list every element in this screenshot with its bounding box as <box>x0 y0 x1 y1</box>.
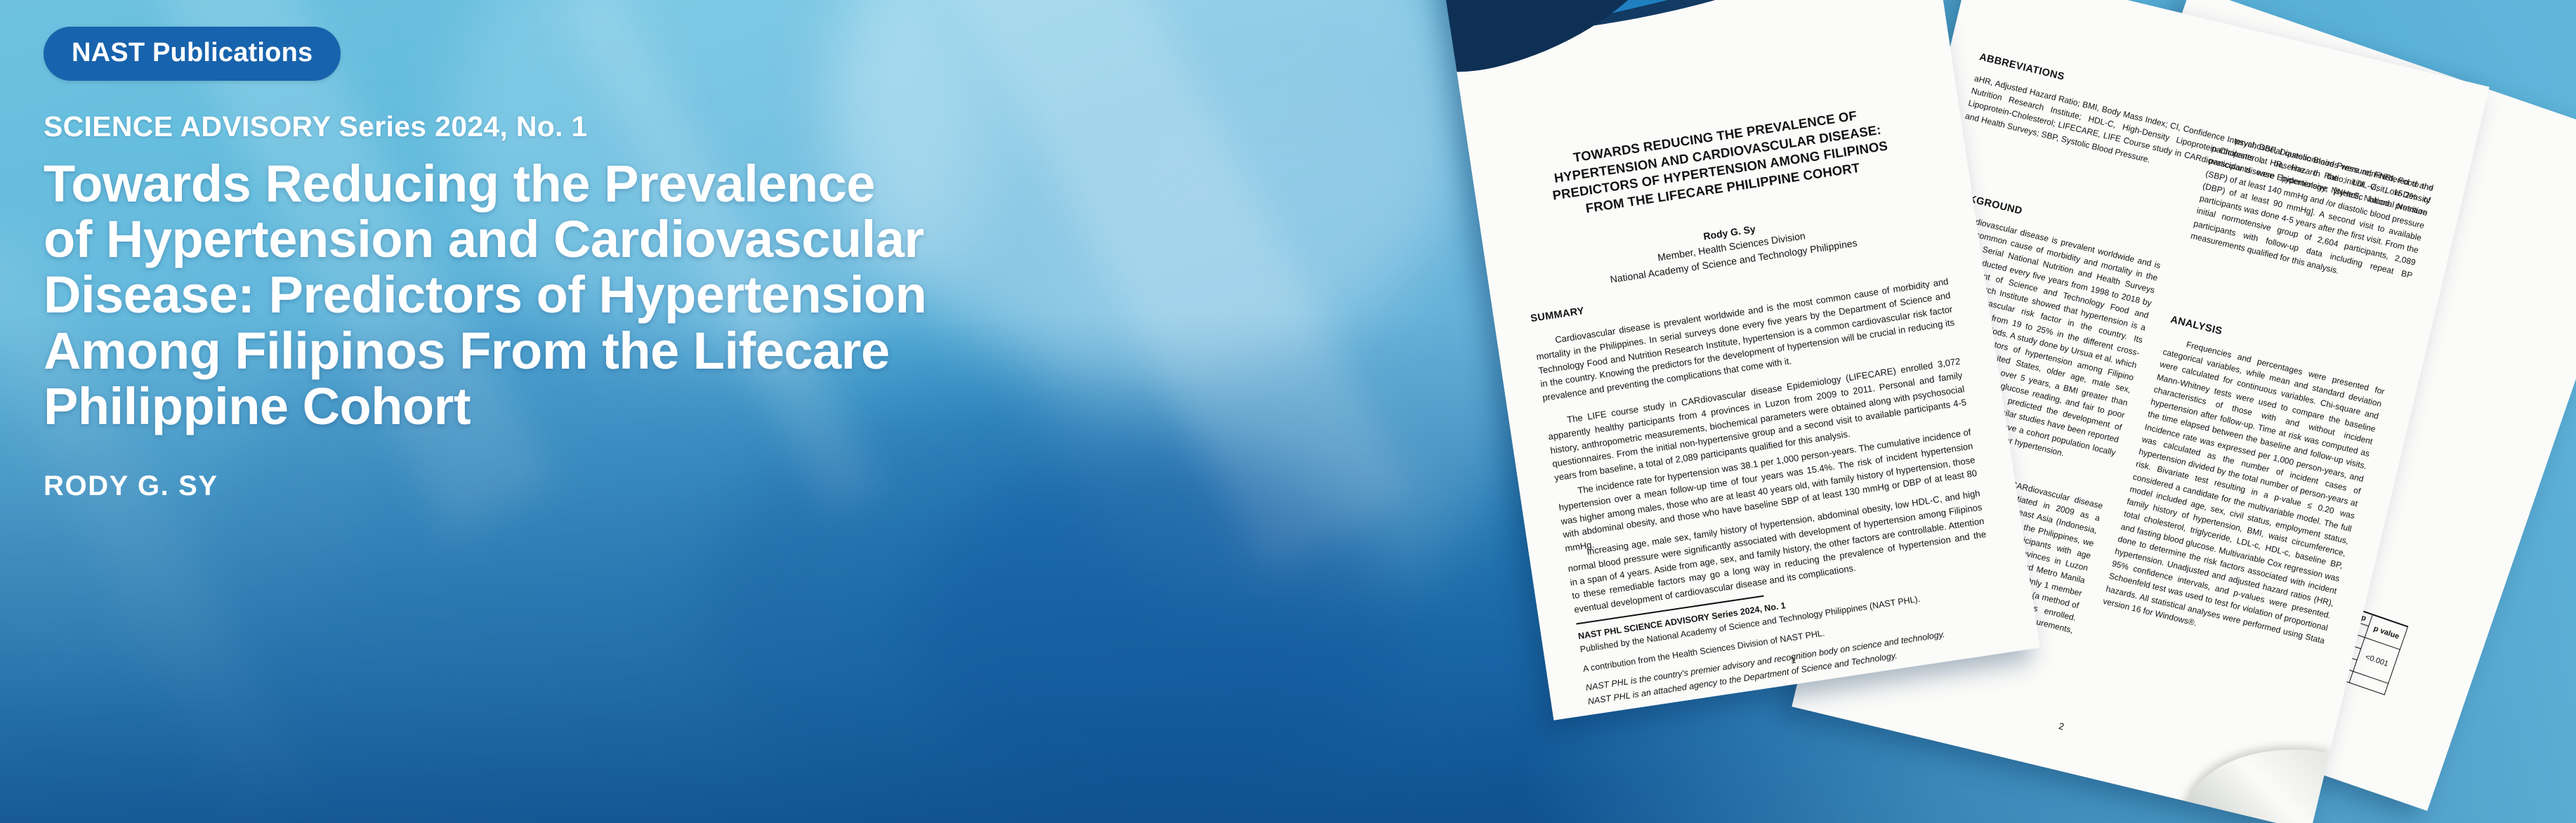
document-page-1[interactable]: ★ TOWARDS REDUCING THE PREVALENCE OF HYP… <box>1440 0 2039 720</box>
page2-analysis-heading: ANALYSIS <box>2169 314 2223 337</box>
nast-publication-banner: NAST Publications SCIENCE ADVISORY Serie… <box>0 0 2576 823</box>
title-line-5: Philippine Cohort <box>44 378 1195 434</box>
page2-col2-p1: psychosocial questionnaires were adminis… <box>2189 130 2434 294</box>
document-stack: … Filipinos in the Philippines that thes… <box>1480 0 2576 823</box>
page2-analysis-text: Frequencies and percentages were present… <box>2102 333 2386 659</box>
document-header-artwork: ★ <box>1440 0 2009 148</box>
page-curl-corner <box>2185 729 2332 823</box>
nast-publications-badge[interactable]: NAST Publications <box>44 27 341 81</box>
banner-content: NAST Publications SCIENCE ADVISORY Serie… <box>0 0 1440 823</box>
page-title: Towards Reducing the Prevalence of Hyper… <box>44 156 1195 434</box>
title-line-4: Among Filipinos From the Lifecare <box>44 323 1195 378</box>
author-name: RODY G. SY <box>44 470 1440 502</box>
title-line-3: Disease: Predictors of Hypertension <box>44 267 1195 322</box>
title-line-2: of Hypertension and Cardiovascular <box>44 211 1195 267</box>
title-line-1: Towards Reducing the Prevalence <box>44 156 1195 211</box>
series-label: SCIENCE ADVISORY Series 2024, No. 1 <box>44 110 1440 143</box>
summary-heading: SUMMARY <box>1530 305 1585 324</box>
